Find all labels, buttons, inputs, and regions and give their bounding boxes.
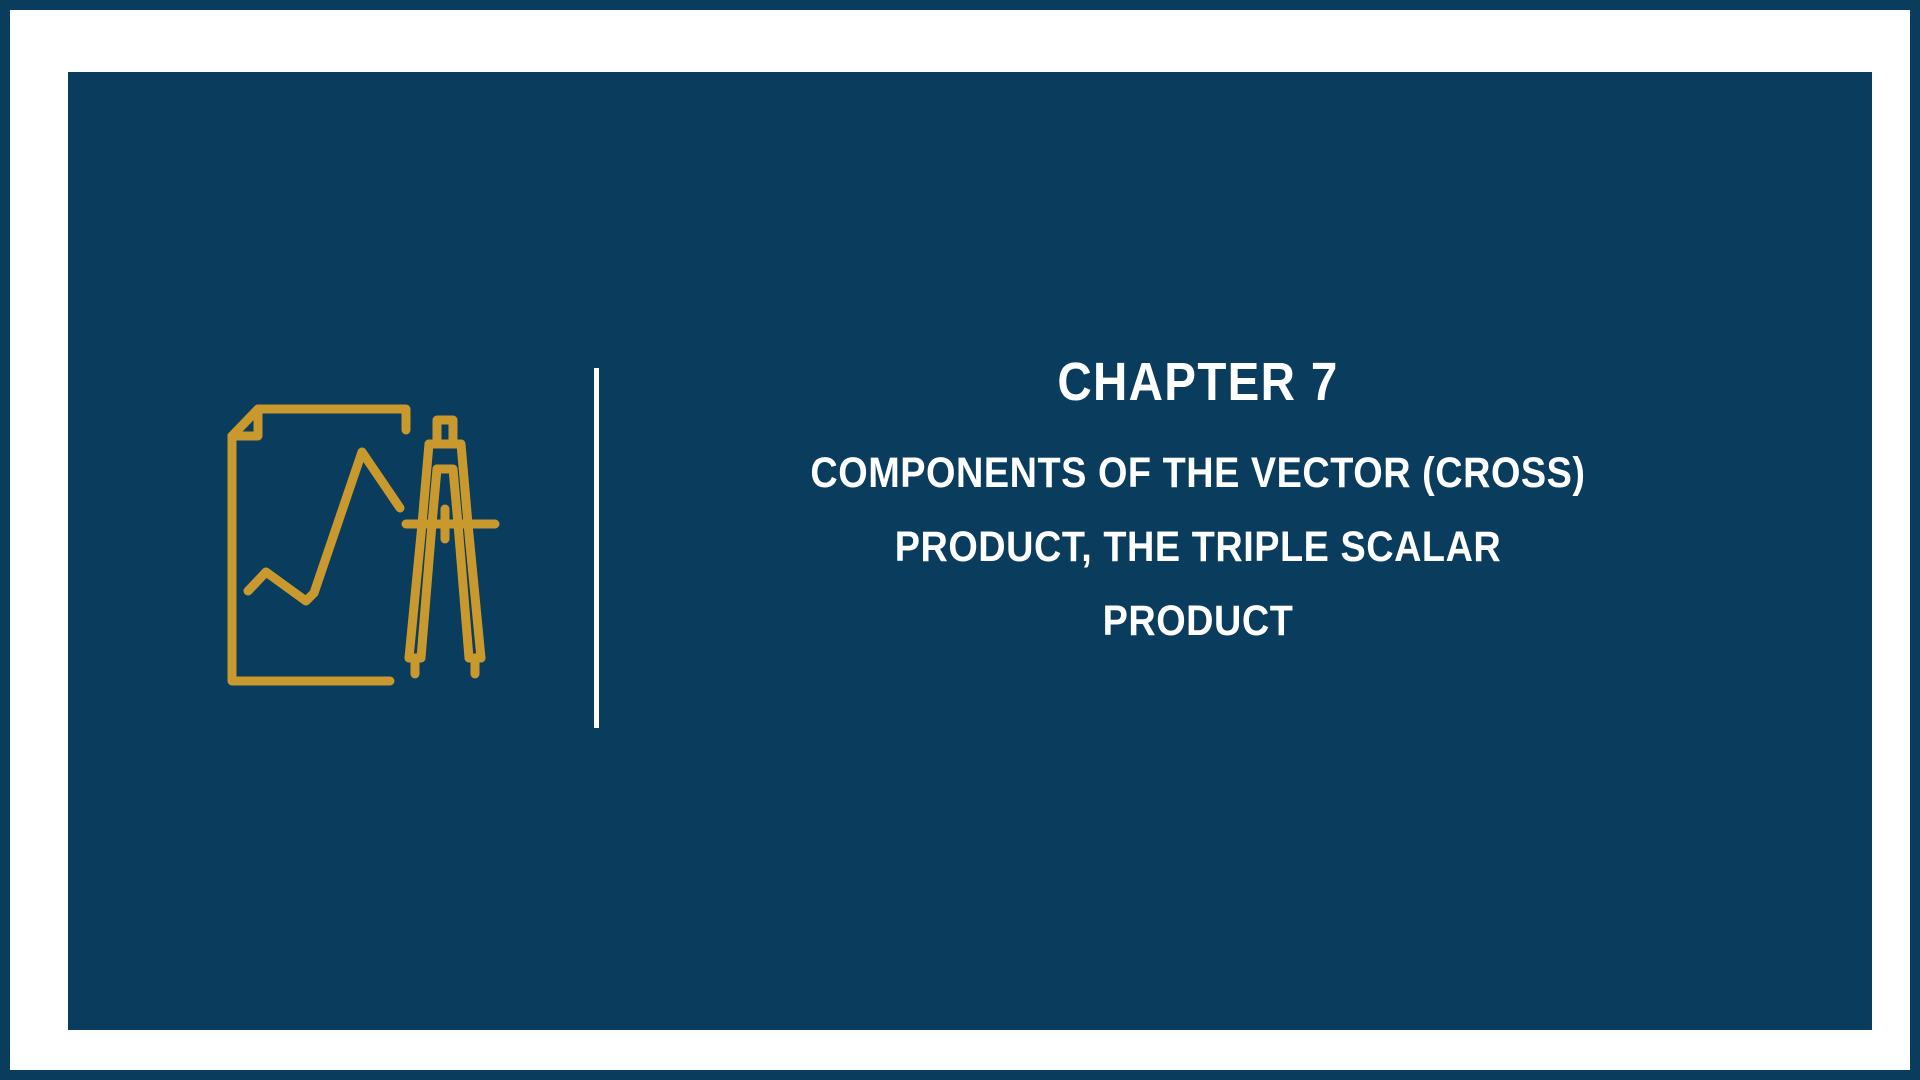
- title-line-3: PRODUCT: [696, 585, 1699, 659]
- line-chart-polyline: [248, 452, 400, 601]
- slide-content-panel: CHAPTER 7 COMPONENTS OF THE VECTOR (CROS…: [68, 72, 1872, 1030]
- slide-white-mat: CHAPTER 7 COMPONENTS OF THE VECTOR (CROS…: [10, 10, 1910, 1070]
- title-line-1: COMPONENTS OF THE VECTOR (CROSS): [696, 437, 1699, 511]
- chapter-label: CHAPTER 7: [696, 354, 1699, 411]
- page-title: COMPONENTS OF THE VECTOR (CROSS) PRODUCT…: [696, 437, 1699, 659]
- title-line-2: PRODUCT, THE TRIPLE SCALAR: [696, 511, 1699, 585]
- title-divider-rule: [594, 368, 599, 728]
- document-chart-and-drafting-compass-icon: [210, 396, 510, 696]
- document-sheet-with-folded-corner: [232, 409, 406, 681]
- slide-outer-frame: CHAPTER 7 COMPONENTS OF THE VECTOR (CROS…: [0, 0, 1920, 1080]
- title-block: CHAPTER 7 COMPONENTS OF THE VECTOR (CROS…: [628, 354, 1768, 659]
- drafting-compass-icon: [406, 420, 495, 674]
